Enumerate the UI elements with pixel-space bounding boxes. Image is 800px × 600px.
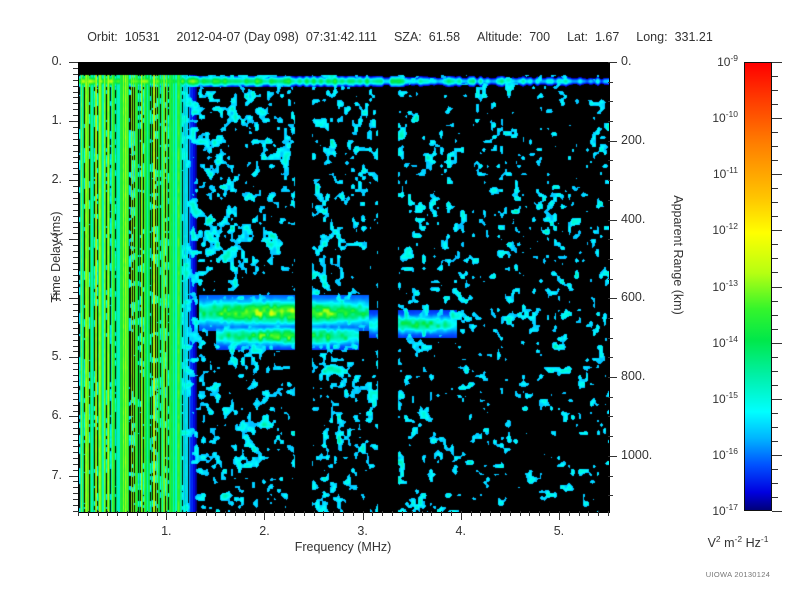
y-axis-title-left: Time Delay (ms) bbox=[49, 187, 63, 327]
x-minor-tick bbox=[471, 511, 472, 516]
colorbar-major-tick bbox=[772, 62, 782, 63]
x-minor-tick bbox=[422, 511, 423, 516]
colorbar-minor-tick bbox=[772, 202, 778, 203]
y-minor-tick bbox=[73, 133, 78, 134]
y-minor-tick bbox=[73, 103, 78, 104]
colorbar-tick-label: 10-16 bbox=[678, 446, 738, 462]
x-major-tick bbox=[363, 511, 364, 520]
colorbar-minor-tick bbox=[772, 427, 778, 428]
y-minor-tick bbox=[73, 340, 78, 341]
x-major-tick bbox=[166, 511, 167, 520]
y-major-tick bbox=[69, 180, 78, 181]
y-minor-tick bbox=[73, 192, 78, 193]
colorbar-minor-tick bbox=[772, 244, 778, 245]
x-minor-tick bbox=[117, 511, 118, 516]
y-major-tick bbox=[69, 121, 78, 122]
y-minor-tick bbox=[73, 422, 78, 423]
y2-major-tick bbox=[608, 141, 617, 142]
colorbar-minor-tick bbox=[772, 301, 778, 302]
y2-major-tick bbox=[608, 456, 617, 457]
colorbar-major-tick bbox=[772, 174, 782, 175]
x-minor-tick bbox=[284, 511, 285, 516]
y-minor-tick bbox=[73, 446, 78, 447]
x-minor-tick bbox=[157, 511, 158, 516]
colorbar-minor-tick bbox=[772, 258, 778, 259]
x-minor-tick bbox=[333, 511, 334, 516]
x-minor-tick bbox=[598, 511, 599, 516]
ionogram-heatmap bbox=[79, 63, 609, 512]
figure-header: Orbit:105312012-04-07 (Day 098)07:31:42.… bbox=[0, 30, 800, 44]
x-minor-tick bbox=[579, 511, 580, 516]
y-minor-tick bbox=[73, 511, 78, 512]
x-minor-tick bbox=[127, 511, 128, 516]
x-tick-label: 5. bbox=[539, 524, 579, 538]
y2-minor-tick bbox=[608, 82, 613, 83]
y-minor-tick bbox=[73, 174, 78, 175]
y-minor-tick bbox=[73, 328, 78, 329]
x-minor-tick bbox=[392, 511, 393, 516]
x-tick-label: 3. bbox=[343, 524, 383, 538]
x-minor-tick bbox=[500, 511, 501, 516]
colorbar-major-tick bbox=[772, 118, 782, 119]
colorbar-minor-tick bbox=[772, 413, 778, 414]
y2-tick-label: 800. bbox=[621, 369, 645, 383]
longitude-value: 331.21 bbox=[675, 30, 713, 44]
orbit-value: 10531 bbox=[125, 30, 160, 44]
colorbar-minor-tick bbox=[772, 104, 778, 105]
x-minor-tick bbox=[98, 511, 99, 516]
colorbar-tick-label: 10-14 bbox=[678, 334, 738, 350]
x-minor-tick bbox=[412, 511, 413, 516]
y-minor-tick bbox=[73, 157, 78, 158]
colorbar-major-tick bbox=[772, 511, 782, 512]
y-minor-tick bbox=[73, 405, 78, 406]
y-minor-tick bbox=[73, 198, 78, 199]
y-minor-tick bbox=[73, 464, 78, 465]
y-minor-tick bbox=[73, 263, 78, 264]
x-minor-tick bbox=[529, 511, 530, 516]
y-minor-tick bbox=[73, 292, 78, 293]
x-minor-tick bbox=[549, 511, 550, 516]
x-minor-tick bbox=[186, 511, 187, 516]
y-axis-title-right: Apparent Range (km) bbox=[671, 165, 685, 345]
units-hz: Hz bbox=[746, 536, 761, 550]
y-minor-tick bbox=[73, 470, 78, 471]
latitude-label: Lat: bbox=[567, 30, 588, 44]
y2-minor-tick bbox=[608, 121, 613, 122]
colorbar-major-tick bbox=[772, 230, 782, 231]
y-minor-tick bbox=[73, 80, 78, 81]
y-minor-tick bbox=[73, 440, 78, 441]
y-minor-tick bbox=[73, 275, 78, 276]
x-minor-tick bbox=[137, 511, 138, 516]
x-minor-tick bbox=[78, 511, 79, 516]
colorbar-tick-label: 10-11 bbox=[678, 165, 738, 181]
x-minor-tick bbox=[147, 511, 148, 516]
x-tick-label: 2. bbox=[244, 524, 284, 538]
y-tick-label: 2. bbox=[22, 172, 62, 186]
ionogram-plot-area bbox=[78, 62, 610, 513]
y-minor-tick bbox=[73, 505, 78, 506]
y2-minor-tick bbox=[608, 101, 613, 102]
y-minor-tick bbox=[73, 151, 78, 152]
units-v: V bbox=[708, 536, 716, 550]
colorbar-major-tick bbox=[772, 399, 782, 400]
x-minor-tick bbox=[235, 511, 236, 516]
colorbar-gradient bbox=[745, 63, 771, 510]
colorbar-major-tick bbox=[772, 343, 782, 344]
x-minor-tick bbox=[245, 511, 246, 516]
y-minor-tick bbox=[73, 245, 78, 246]
y-minor-tick bbox=[73, 109, 78, 110]
colorbar-minor-tick bbox=[772, 146, 778, 147]
y-minor-tick bbox=[73, 168, 78, 169]
x-minor-tick bbox=[441, 511, 442, 516]
y-minor-tick bbox=[73, 204, 78, 205]
altitude-value: 700 bbox=[529, 30, 550, 44]
colorbar-minor-tick bbox=[772, 371, 778, 372]
y-minor-tick bbox=[73, 115, 78, 116]
y2-minor-tick bbox=[608, 279, 613, 280]
colorbar-minor-tick bbox=[772, 90, 778, 91]
x-minor-tick bbox=[510, 511, 511, 516]
y-minor-tick bbox=[73, 145, 78, 146]
y2-tick-label: 400. bbox=[621, 212, 645, 226]
y-minor-tick bbox=[73, 281, 78, 282]
colorbar-tick-label: 10-12 bbox=[678, 221, 738, 237]
y-minor-tick bbox=[73, 216, 78, 217]
units-m: m bbox=[724, 536, 734, 550]
y-minor-tick bbox=[73, 287, 78, 288]
y2-tick-label: 1000. bbox=[621, 448, 652, 462]
colorbar-major-tick bbox=[772, 455, 782, 456]
y-minor-tick bbox=[73, 434, 78, 435]
y-minor-tick bbox=[73, 233, 78, 234]
x-minor-tick bbox=[343, 511, 344, 516]
y-minor-tick bbox=[73, 186, 78, 187]
x-minor-tick bbox=[274, 511, 275, 516]
x-minor-tick bbox=[107, 511, 108, 516]
x-minor-tick bbox=[431, 511, 432, 516]
latitude-value: 1.67 bbox=[595, 30, 619, 44]
altitude-label: Altitude: bbox=[477, 30, 522, 44]
colorbar-minor-tick bbox=[772, 441, 778, 442]
y-minor-tick bbox=[73, 346, 78, 347]
y-minor-tick bbox=[73, 68, 78, 69]
x-minor-tick bbox=[353, 511, 354, 516]
colorbar-minor-tick bbox=[772, 188, 778, 189]
y2-major-tick bbox=[608, 298, 617, 299]
ionogram-figure: Orbit:105312012-04-07 (Day 098)07:31:42.… bbox=[0, 0, 800, 600]
y-minor-tick bbox=[73, 334, 78, 335]
y-minor-tick bbox=[73, 322, 78, 323]
y2-minor-tick bbox=[608, 416, 613, 417]
x-axis-title: Frequency (MHz) bbox=[78, 540, 608, 554]
y2-minor-tick bbox=[608, 495, 613, 496]
y2-minor-tick bbox=[608, 357, 613, 358]
x-major-tick bbox=[559, 511, 560, 520]
y2-tick-label: 200. bbox=[621, 133, 645, 147]
y-minor-tick bbox=[73, 393, 78, 394]
y-minor-tick bbox=[73, 375, 78, 376]
orbit-label: Orbit: bbox=[87, 30, 118, 44]
colorbar-minor-tick bbox=[772, 160, 778, 161]
y2-major-tick bbox=[608, 220, 617, 221]
colorbar-minor-tick bbox=[772, 315, 778, 316]
y-minor-tick bbox=[73, 411, 78, 412]
x-tick-label: 1. bbox=[146, 524, 186, 538]
y-minor-tick bbox=[73, 162, 78, 163]
x-minor-tick bbox=[608, 511, 609, 516]
x-minor-tick bbox=[255, 511, 256, 516]
y-major-tick bbox=[69, 416, 78, 417]
y2-minor-tick bbox=[608, 160, 613, 161]
sza-value: 61.58 bbox=[429, 30, 460, 44]
y-minor-tick bbox=[73, 458, 78, 459]
observation-time: 07:31:42.111 bbox=[306, 30, 377, 44]
colorbar-minor-tick bbox=[772, 483, 778, 484]
x-tick-label: 4. bbox=[441, 524, 481, 538]
colorbar-major-tick bbox=[772, 287, 782, 288]
sza-label: SZA: bbox=[394, 30, 422, 44]
colorbar-tick-label: 10-13 bbox=[678, 278, 738, 294]
x-minor-tick bbox=[88, 511, 89, 516]
y-minor-tick bbox=[73, 381, 78, 382]
x-minor-tick bbox=[196, 511, 197, 516]
x-minor-tick bbox=[304, 511, 305, 516]
x-minor-tick bbox=[176, 511, 177, 516]
x-minor-tick bbox=[314, 511, 315, 516]
y-minor-tick bbox=[73, 487, 78, 488]
colorbar-minor-tick bbox=[772, 76, 778, 77]
y-minor-tick bbox=[73, 481, 78, 482]
y-tick-label: 5. bbox=[22, 349, 62, 363]
x-minor-tick bbox=[520, 511, 521, 516]
y2-minor-tick bbox=[608, 436, 613, 437]
y2-tick-label: 600. bbox=[621, 290, 645, 304]
x-minor-tick bbox=[402, 511, 403, 516]
y-minor-tick bbox=[73, 257, 78, 258]
y-tick-label: 7. bbox=[22, 468, 62, 482]
x-minor-tick bbox=[588, 511, 589, 516]
y-tick-label: 1. bbox=[22, 113, 62, 127]
y-major-tick bbox=[69, 476, 78, 477]
y2-minor-tick bbox=[608, 239, 613, 240]
y-minor-tick bbox=[73, 251, 78, 252]
x-minor-tick bbox=[294, 511, 295, 516]
y-minor-tick bbox=[73, 304, 78, 305]
y2-minor-tick bbox=[608, 338, 613, 339]
colorbar-minor-tick bbox=[772, 385, 778, 386]
y-minor-tick bbox=[73, 74, 78, 75]
y-minor-tick bbox=[73, 139, 78, 140]
colorbar-tick-label: 10-10 bbox=[678, 109, 738, 125]
colorbar-minor-tick bbox=[772, 132, 778, 133]
y-minor-tick bbox=[73, 222, 78, 223]
y-minor-tick bbox=[73, 369, 78, 370]
colorbar-tick-label: 10-15 bbox=[678, 390, 738, 406]
y-minor-tick bbox=[73, 351, 78, 352]
institution-credit: UIOWA 20130124 bbox=[676, 570, 800, 579]
x-minor-tick bbox=[480, 511, 481, 516]
y2-tick-label: 0. bbox=[621, 54, 631, 68]
observation-date: 2012-04-07 (Day 098) bbox=[177, 30, 299, 44]
colorbar-tick-label: 10-9 bbox=[678, 53, 738, 69]
y2-minor-tick bbox=[608, 476, 613, 477]
x-minor-tick bbox=[206, 511, 207, 516]
y-minor-tick bbox=[73, 428, 78, 429]
colorbar-minor-tick bbox=[772, 329, 778, 330]
y-minor-tick bbox=[73, 92, 78, 93]
longitude-label: Long: bbox=[636, 30, 667, 44]
y-minor-tick bbox=[73, 399, 78, 400]
colorbar-minor-tick bbox=[772, 497, 778, 498]
x-minor-tick bbox=[382, 511, 383, 516]
colorbar bbox=[744, 62, 772, 511]
y-minor-tick bbox=[73, 310, 78, 311]
y-minor-tick bbox=[73, 210, 78, 211]
x-minor-tick bbox=[225, 511, 226, 516]
y-minor-tick bbox=[73, 86, 78, 87]
colorbar-minor-tick bbox=[772, 469, 778, 470]
y2-major-tick bbox=[608, 62, 617, 63]
y-minor-tick bbox=[73, 452, 78, 453]
y-major-tick bbox=[69, 298, 78, 299]
x-minor-tick bbox=[569, 511, 570, 516]
colorbar-tick-label: 10-17 bbox=[678, 502, 738, 518]
x-minor-tick bbox=[323, 511, 324, 516]
y-tick-label: 0. bbox=[22, 54, 62, 68]
y-major-tick bbox=[69, 357, 78, 358]
x-minor-tick bbox=[490, 511, 491, 516]
y-minor-tick bbox=[73, 316, 78, 317]
x-major-tick bbox=[264, 511, 265, 520]
y-minor-tick bbox=[73, 269, 78, 270]
y-minor-tick bbox=[73, 387, 78, 388]
x-minor-tick bbox=[372, 511, 373, 516]
x-minor-tick bbox=[215, 511, 216, 516]
x-minor-tick bbox=[451, 511, 452, 516]
y2-minor-tick bbox=[608, 318, 613, 319]
y-major-tick bbox=[69, 239, 78, 240]
y2-major-tick bbox=[608, 377, 617, 378]
y-tick-label: 6. bbox=[22, 408, 62, 422]
colorbar-units-label: V2 m-2 Hz-1 bbox=[676, 534, 800, 550]
y-minor-tick bbox=[73, 227, 78, 228]
colorbar-minor-tick bbox=[772, 357, 778, 358]
y-minor-tick bbox=[73, 127, 78, 128]
y2-minor-tick bbox=[608, 200, 613, 201]
x-major-tick bbox=[461, 511, 462, 520]
y-minor-tick bbox=[73, 493, 78, 494]
y2-minor-tick bbox=[608, 180, 613, 181]
y-major-tick bbox=[69, 62, 78, 63]
y-minor-tick bbox=[73, 363, 78, 364]
y2-minor-tick bbox=[608, 397, 613, 398]
y2-minor-tick bbox=[608, 259, 613, 260]
y-minor-tick bbox=[73, 499, 78, 500]
colorbar-minor-tick bbox=[772, 216, 778, 217]
colorbar-minor-tick bbox=[772, 272, 778, 273]
y-minor-tick bbox=[73, 97, 78, 98]
x-minor-tick bbox=[539, 511, 540, 516]
